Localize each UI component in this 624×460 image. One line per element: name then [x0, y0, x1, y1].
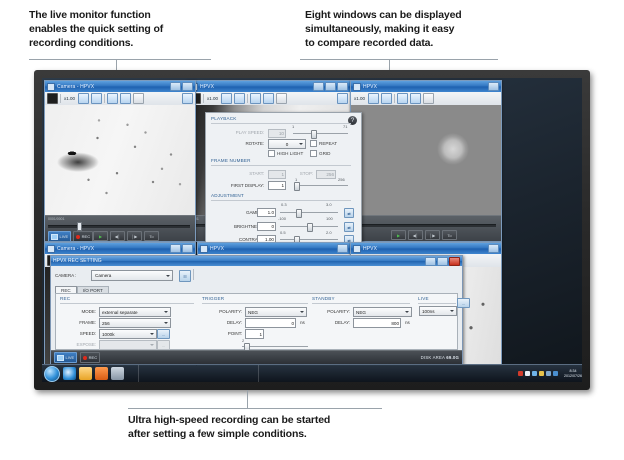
windows-taskbar[interactable]: 8:34 2012/07/26 — [42, 364, 582, 382]
rotate-value: 0 — [286, 142, 289, 147]
volume-icon[interactable] — [532, 371, 537, 376]
grid-label: GRID — [319, 151, 330, 156]
contrast-min: 0.5 — [280, 230, 286, 235]
rec-setting-title-buttons[interactable] — [425, 257, 460, 266]
gamma-max: 3.0 — [326, 202, 332, 207]
divider — [211, 165, 351, 166]
window-1-title-buttons[interactable] — [170, 82, 193, 91]
taskbar-divider — [138, 365, 139, 382]
minimize-icon[interactable] — [425, 257, 436, 266]
next-frame-icon[interactable]: │▶ — [425, 230, 440, 240]
rec-setting-title: HPVX REC SETTING — [53, 258, 102, 264]
usb-icon[interactable] — [546, 371, 551, 376]
window-1-mode-buttons[interactable]: LIVE REC — [48, 231, 93, 242]
live-expose-group[interactable]: 100ns ... — [419, 306, 457, 316]
high-light-label: HIGH LIGHT — [277, 151, 303, 156]
chevron-down-icon — [164, 322, 168, 324]
zoom-out-icon[interactable] — [234, 93, 245, 104]
system-tray[interactable]: 8:34 2012/07/26 — [518, 369, 582, 378]
brightness-reset-icon[interactable]: ⇄ — [344, 222, 354, 232]
disk-area-status: DISK AREA 69.0G — [421, 355, 459, 360]
standby-polarity-value: NEG — [356, 310, 366, 315]
window-2-titlebar[interactable]: HPVX — [188, 81, 350, 92]
first-display-max: 256 — [338, 177, 345, 182]
monitor-icon — [57, 355, 64, 361]
gamma-field[interactable]: 1.0 — [257, 208, 276, 217]
power-icon[interactable] — [553, 371, 558, 376]
trigger-section-title: TRIGGER — [202, 296, 224, 301]
rec-frame-value: 256 — [102, 321, 110, 326]
window-1-slider-knob[interactable] — [77, 222, 82, 231]
explorer-icon[interactable] — [79, 367, 92, 380]
rotate-label: ROTATE: — [228, 141, 264, 146]
rec-mode-select[interactable]: external separate — [99, 307, 171, 317]
window-1-zoom-label: x1.00 — [63, 96, 76, 101]
window-3-toolbar[interactable]: x1.00 — [351, 92, 501, 106]
minimize-icon[interactable] — [337, 244, 348, 253]
rec-expose-label: EXPOSE: — [64, 342, 96, 347]
rotate-select[interactable]: 0 — [268, 139, 306, 149]
start-field[interactable]: 1 — [268, 170, 286, 179]
trigger-point-field[interactable]: 1 — [245, 329, 264, 339]
divider — [211, 200, 351, 201]
playback-dialog[interactable]: ? PLAYBACK PLAY SPEED: 10 1 71 ROTATE: 0… — [205, 112, 362, 247]
fit-icon[interactable] — [250, 93, 261, 104]
camera-select[interactable]: Camera — [91, 270, 173, 281]
fit-icon[interactable] — [397, 93, 408, 104]
gamma-slider-track[interactable] — [280, 212, 338, 213]
caption-top-left-rule — [29, 59, 211, 60]
rec-expose-unit-button[interactable]: ... — [157, 340, 170, 350]
rec-mode-label: MODE: — [64, 309, 96, 314]
camera-window-3[interactable]: HPVX x1.00 0001 ▶ — [350, 80, 502, 242]
camera-config-icon[interactable]: ☷ — [179, 270, 191, 282]
rec-setting-rec-label: REC — [89, 355, 97, 360]
internet-explorer-icon[interactable] — [63, 367, 76, 380]
live-button-label: LIVE — [60, 234, 69, 239]
image-icon[interactable] — [47, 93, 58, 104]
clock-date: 2012/07/26 — [564, 374, 582, 379]
monitor-screen: HPVX x1.00 — [42, 78, 582, 382]
trigger-delay-label: DELAY: — [204, 320, 242, 325]
first-display-label: FIRST DISPLAY: — [212, 183, 264, 188]
caption-top-left-line-3: recording conditions. — [29, 36, 289, 50]
play-speed-label: PLAY SPEED: — [222, 130, 264, 135]
rec-setting-live-label: LIVE — [66, 355, 75, 360]
rec-button[interactable]: REC — [73, 231, 93, 242]
ime-icon[interactable] — [525, 371, 530, 376]
first-display-slider-knob[interactable] — [294, 182, 300, 191]
rec-frame-select[interactable]: 256 — [99, 318, 171, 328]
caption-top-right-line-3: to compare recorded data. — [305, 36, 575, 50]
divider — [211, 123, 351, 124]
trigger-point-label: POINT: — [204, 331, 242, 336]
minimize-icon[interactable] — [170, 82, 181, 91]
caption-bottom-rule — [128, 408, 382, 409]
media-player-icon[interactable] — [95, 367, 108, 380]
rec-section-title: REC — [60, 296, 70, 301]
play-icon[interactable]: ▶ — [93, 231, 108, 241]
layers-icon[interactable] — [410, 93, 421, 104]
trigger-delay-unit: ns — [300, 320, 310, 325]
chevron-down-icon — [300, 311, 304, 313]
minimize-icon[interactable] — [488, 244, 499, 253]
window-3-titlebar[interactable]: HPVX — [351, 81, 501, 92]
window-2-toolbar[interactable]: x1.00 — [188, 92, 350, 106]
trigger-polarity-select[interactable]: NEG — [245, 307, 307, 317]
rec-speed-label: SPEED: — [64, 331, 96, 336]
monitor-bezel: HPVX x1.00 — [34, 70, 590, 390]
chevron-down-icon — [150, 344, 154, 346]
rec-button-label: REC — [82, 234, 90, 239]
trigger-point-slider-track[interactable] — [242, 346, 308, 347]
rec-speed-select[interactable]: 1000k — [99, 329, 157, 339]
rec-setting-dialog[interactable]: HPVX REC SETTING CAMERA : Camera ☷ REC I… — [50, 255, 463, 365]
chevron-down-icon — [299, 143, 303, 145]
grid-checkbox[interactable]: GRID — [310, 150, 330, 157]
caption-top-left: The live monitor function enables the qu… — [29, 8, 289, 50]
checkbox-icon[interactable] — [268, 150, 275, 157]
play-speed-max: 71 — [343, 124, 347, 129]
high-light-checkbox[interactable]: HIGH LIGHT — [268, 150, 303, 157]
close-icon[interactable] — [337, 82, 348, 91]
rec-setting-panel: REC MODE: external separate FRAME: 256 S… — [55, 293, 458, 350]
record-dot-icon — [76, 235, 80, 239]
brightness-min: -100 — [278, 216, 286, 221]
zoom-out-icon[interactable] — [381, 93, 392, 104]
standby-delay-field[interactable]: 800 — [353, 318, 401, 328]
disk-area-label: DISK AREA — [421, 355, 445, 360]
standby-delay-label: DELAY: — [312, 320, 350, 325]
window-4-title: Camera - HPVX — [57, 246, 94, 252]
window-3-playbar[interactable]: 0001 ▶ ◀│ │▶ To — [351, 215, 501, 242]
divider — [418, 303, 456, 304]
window-6-title-buttons[interactable] — [488, 244, 499, 253]
to-all-icon[interactable]: To — [144, 231, 159, 241]
stop-field[interactable]: 256 — [316, 170, 336, 179]
brightness-max: 100 — [326, 216, 333, 221]
first-display-slider-track[interactable] — [294, 185, 348, 186]
camera-value: Camera — [95, 273, 111, 278]
play-speed-field[interactable]: 10 — [268, 129, 286, 138]
fit-icon[interactable] — [107, 93, 118, 104]
trigger-polarity-label: POLARITY: — [204, 309, 242, 314]
to-all-icon[interactable]: To — [442, 230, 457, 240]
grid-icon[interactable] — [423, 93, 434, 104]
chevron-down-icon — [150, 333, 154, 335]
window-icon — [353, 245, 361, 253]
window-1-playbar[interactable]: 0001/0001 LIVE REC ▶ ◀│ │▶ — [45, 215, 195, 242]
live-expose-value-select[interactable]: 100ns — [419, 306, 457, 316]
rec-expose-select[interactable] — [99, 340, 157, 350]
grid-icon[interactable] — [276, 93, 287, 104]
caption-top-left-line-1: The live monitor function — [29, 8, 289, 22]
window-3-image — [351, 105, 501, 215]
camera-label: CAMERA : — [55, 273, 87, 278]
rec-frame-label: FRAME: — [64, 320, 96, 325]
play-speed-slider-knob[interactable] — [311, 130, 317, 139]
start-orb-icon[interactable] — [44, 366, 60, 382]
rec-setting-titlebar[interactable]: HPVX REC SETTING — [51, 256, 462, 266]
chevron-down-icon — [450, 310, 454, 312]
chevron-down-icon — [166, 275, 170, 277]
window-5-title-buttons[interactable] — [337, 244, 348, 253]
caption-top-right-line-1: Eight windows can be displayed — [305, 8, 575, 22]
trigger-delay-field[interactable]: 0 — [245, 318, 296, 328]
gamma-slider-knob[interactable] — [296, 209, 302, 218]
minimize-icon[interactable] — [170, 244, 181, 253]
caption-top-right-rule — [300, 59, 498, 60]
disk-area-value: 69.0G — [446, 355, 459, 360]
play-icon[interactable]: ▶ — [391, 230, 406, 240]
caption-top-right-line-2: simultaneously, making it easy — [305, 22, 575, 36]
caption-bottom-line-2: after setting a few simple conditions. — [128, 427, 458, 441]
first-display-field[interactable]: 1 — [268, 181, 286, 190]
next-frame-icon[interactable]: │▶ — [127, 231, 142, 241]
window-2-title: HPVX — [200, 84, 214, 90]
gamma-min: 0.3 — [281, 202, 287, 207]
window-4-titlebar[interactable]: Camera - HPVX — [45, 243, 195, 254]
contrast-max: 2.0 — [326, 230, 332, 235]
window-2-zoom-label: x1.00 — [206, 96, 219, 101]
network-icon[interactable] — [518, 371, 523, 376]
maximize-icon[interactable] — [182, 244, 193, 253]
window-1-image — [45, 105, 195, 215]
play-speed-min: 1 — [292, 124, 294, 129]
live-expose-value: 100ns — [422, 309, 435, 314]
maximize-icon[interactable] — [325, 82, 336, 91]
start-label: START: — [228, 171, 264, 176]
play-speed-slider-track[interactable] — [293, 133, 348, 134]
monitor-icon — [51, 234, 58, 240]
layers-icon[interactable] — [120, 93, 131, 104]
rec-setting-rec-button[interactable]: REC — [80, 352, 100, 363]
window-3-title-buttons[interactable] — [488, 82, 499, 91]
contrast-slider-track[interactable] — [280, 239, 338, 240]
window-5-titlebar[interactable]: HPVX — [198, 243, 350, 254]
rec-speed-unit-button[interactable]: ... — [157, 329, 170, 339]
window-icon — [47, 83, 55, 91]
brightness-field[interactable]: 0 — [257, 222, 276, 231]
close-icon[interactable] — [449, 257, 460, 266]
frame-number-group-title: FRAME NUMBER — [211, 158, 251, 163]
live-section-title: LIVE — [418, 296, 429, 301]
window-4-title-buttons[interactable] — [170, 244, 193, 253]
window-1-frame-label: 0001/0001 — [48, 217, 65, 221]
repeat-label: REPEAT — [319, 141, 337, 146]
window-3-title: HPVX — [363, 84, 377, 90]
zoom-in-icon[interactable] — [78, 93, 89, 104]
chevron-down-icon — [164, 311, 168, 313]
caption-bottom-line-1: Ultra high-speed recording can be starte… — [128, 413, 458, 427]
window-1-title: Camera - HPVX — [57, 84, 94, 90]
standby-polarity-select[interactable]: NEG — [353, 307, 412, 317]
caption-top-left-line-2: enables the quick setting of — [29, 22, 289, 36]
window-3-zoom-label: x1.00 — [353, 96, 366, 101]
export-icon[interactable] — [337, 93, 348, 104]
maximize-icon[interactable] — [182, 82, 193, 91]
standby-section-title: STANDBY — [312, 296, 335, 301]
window-icon — [47, 245, 55, 253]
divider — [193, 269, 194, 280]
stop-label: STOP: — [291, 171, 313, 176]
prev-frame-icon[interactable]: ◀│ — [408, 230, 423, 240]
caption-top-right: Eight windows can be displayed simultane… — [305, 8, 575, 50]
record-dot-icon — [83, 356, 87, 360]
prev-frame-icon[interactable]: ◀│ — [110, 231, 125, 241]
rec-setting-statusbar: LIVE REC DISK AREA 69.0G — [51, 350, 462, 364]
playback-group-title: PLAYBACK — [211, 116, 237, 121]
standby-delay-unit: ns — [405, 320, 415, 325]
divider — [202, 303, 308, 304]
gamma-reset-icon[interactable]: ⇄ — [344, 208, 354, 218]
divider — [60, 303, 194, 304]
window-1-toolbar[interactable]: x1.00 — [45, 92, 195, 106]
caption-bottom: Ultra high-speed recording can be starte… — [128, 413, 458, 441]
export-icon[interactable] — [182, 93, 193, 104]
maximize-icon[interactable] — [437, 257, 448, 266]
window-1-titlebar[interactable]: Camera - HPVX — [45, 81, 195, 92]
window-6-titlebar[interactable]: HPVX — [351, 243, 501, 254]
caption-bottom-pointer-stem — [247, 390, 248, 408]
grid-icon[interactable] — [133, 93, 144, 104]
window-3-transport[interactable]: ▶ ◀│ │▶ To — [391, 230, 457, 240]
window-icon — [200, 245, 208, 253]
window-3-slider-track[interactable] — [354, 224, 496, 227]
rec-mode-value: external separate — [102, 310, 138, 315]
rec-speed-value: 1000k — [102, 332, 115, 337]
taskbar-divider — [258, 365, 259, 382]
window-1-transport[interactable]: ▶ ◀│ │▶ To — [93, 231, 159, 241]
live-expose-unit-button[interactable]: ... — [457, 298, 470, 308]
action-center-icon[interactable] — [539, 371, 544, 376]
camera-app-icon[interactable] — [111, 367, 124, 380]
repeat-checkbox[interactable]: REPEAT — [310, 140, 337, 147]
adjustment-group-title: ADJUSTMENT — [211, 193, 244, 198]
zoom-out-icon[interactable] — [91, 93, 102, 104]
checkbox-icon[interactable] — [310, 140, 317, 147]
camera-window-1[interactable]: Camera - HPVX x1.00 — [44, 80, 196, 242]
checkbox-icon[interactable] — [310, 150, 317, 157]
standby-polarity-label: POLARITY: — [312, 309, 350, 314]
zoom-in-icon[interactable] — [368, 93, 379, 104]
chevron-down-icon — [405, 311, 409, 313]
window-1-slider-track[interactable] — [48, 225, 190, 228]
trigger-polarity-value: NEG — [248, 310, 258, 315]
rec-setting-live-button[interactable]: LIVE — [54, 352, 77, 363]
window-6-title: HPVX — [363, 246, 377, 252]
taskbar-clock[interactable]: 8:34 2012/07/26 — [560, 369, 582, 378]
window-5-title: HPVX — [210, 246, 224, 252]
minimize-icon[interactable] — [488, 82, 499, 91]
live-button[interactable]: LIVE — [48, 231, 71, 242]
window-2-title-buttons[interactable] — [313, 82, 348, 91]
minimize-icon[interactable] — [313, 82, 324, 91]
brightness-slider-knob[interactable] — [307, 223, 313, 232]
divider — [312, 303, 410, 304]
window-icon — [353, 83, 361, 91]
zoom-in-icon[interactable] — [221, 93, 232, 104]
layers-icon[interactable] — [263, 93, 274, 104]
